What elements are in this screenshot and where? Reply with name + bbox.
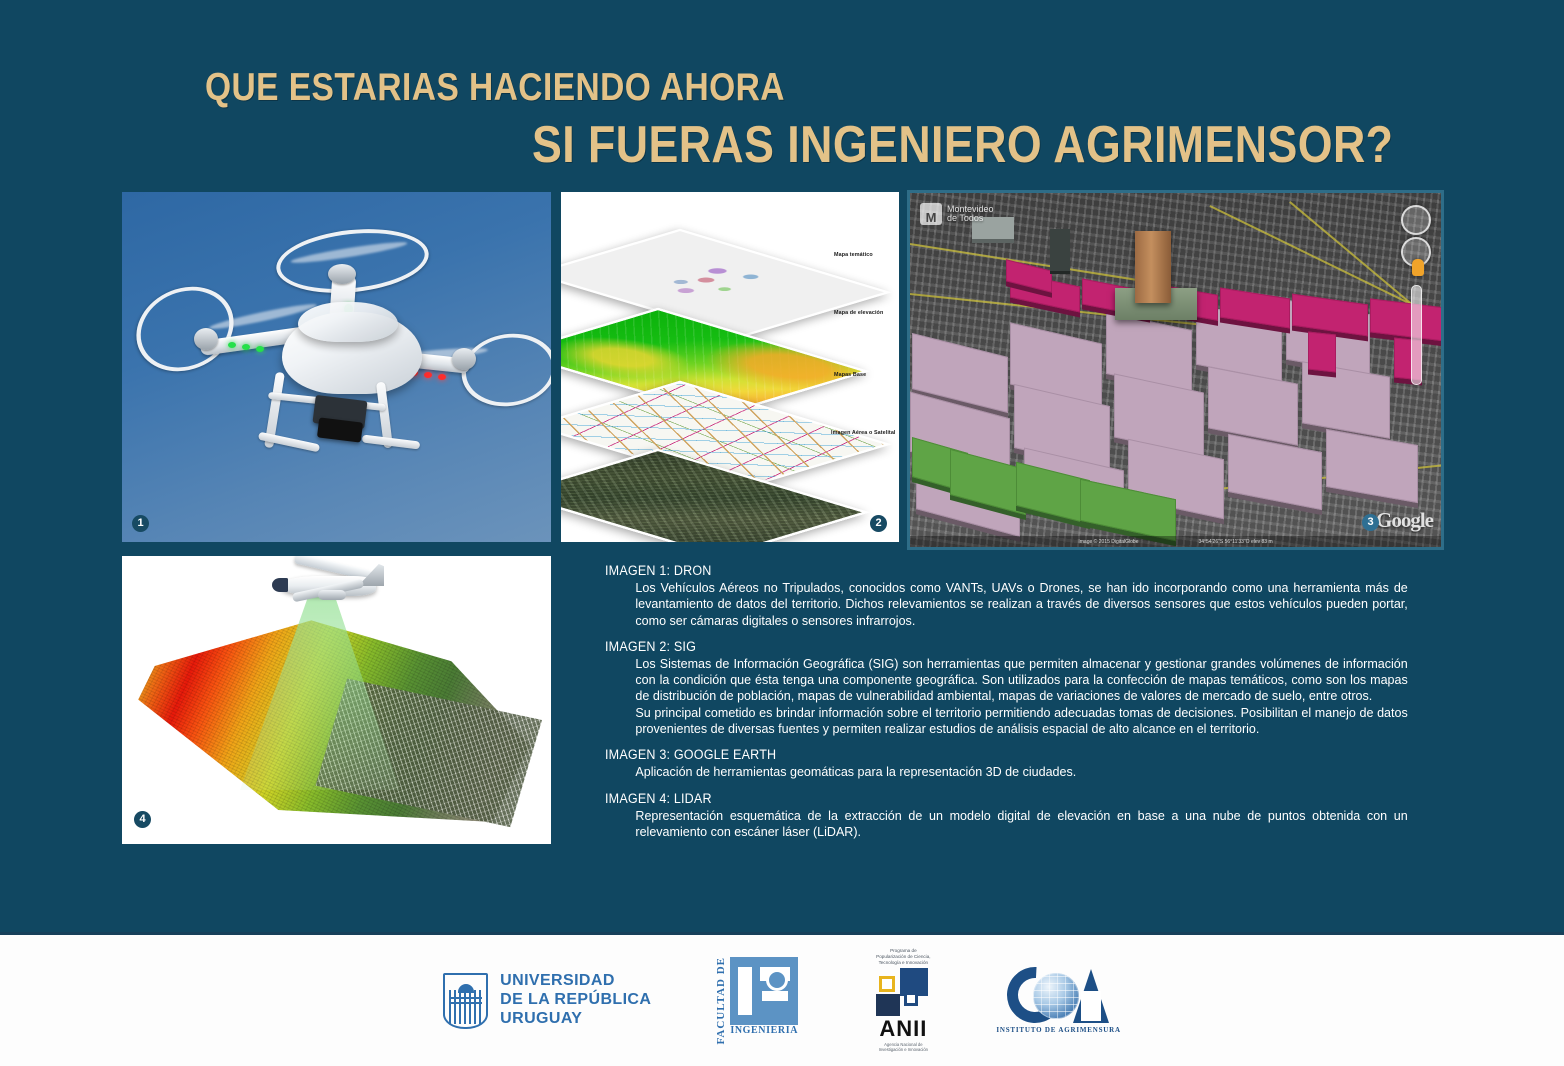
udelar-dome-icon [458, 984, 474, 993]
caption-body-2a: Los Sistemas de Información Geográfica (… [605, 656, 1408, 705]
logo-facultad-de-ingenieria: FACULTAD DE INGENIERIA [715, 957, 810, 1045]
udelar-line-2: DE LA REPÚBLICA [500, 991, 651, 1010]
logo-instituto-de-agrimensura: INSTITUTO DE AGRIMENSURA [996, 967, 1120, 1034]
udelar-line-3: URUGUAY [500, 1010, 651, 1029]
anii-square-yellow [879, 976, 895, 992]
building-block-highlight [1308, 332, 1336, 373]
caption-heading-2: IMAGEN 2: SIG [605, 639, 1391, 654]
montevideo-mark-icon: M [920, 203, 942, 225]
anii-square-outline [904, 992, 918, 1006]
compass-navigation-icon[interactable] [1401, 205, 1431, 235]
caption-group-4: IMAGEN 4: LIDAR Representación esquemáti… [605, 791, 1450, 841]
fing-vertical-label: FACULTAD DE [715, 957, 727, 1045]
image-panel-sig: Mapa temático Mapa de elevación Mapas Ba… [561, 192, 899, 542]
anii-tagline: Programa de Popularización de Ciencia, T… [876, 948, 930, 965]
caption-body-1: Los Vehículos Aéreos no Tripulados, cono… [605, 580, 1408, 629]
image-badge-2: 2 [870, 515, 887, 532]
led-red-3 [438, 374, 446, 380]
caption-text-block: IMAGEN 1: DRON Los Vehículos Aéreos no T… [605, 563, 1450, 848]
google-watermark: Google [1376, 508, 1433, 533]
aircraft-engine [318, 590, 346, 600]
anii-squares-icon [874, 968, 932, 1016]
zoom-slider[interactable] [1411, 285, 1422, 385]
grey-tower [1050, 229, 1070, 271]
caption-group-3: IMAGEN 3: GOOGLE EARTH Aplicación de her… [605, 747, 1450, 780]
status-imagery-credit: Image © 2015 DigitalGlobe [1078, 539, 1138, 545]
image-panel-drone: 1 [122, 192, 551, 542]
udelar-line-1: UNIVERSIDAD [500, 972, 651, 991]
anii-square-navy [876, 994, 900, 1016]
anii-wordmark: ANII [879, 1018, 927, 1040]
sig-label-base: Mapas Base [834, 372, 866, 378]
aircraft-nose [272, 578, 288, 592]
ia-wordmark: INSTITUTO DE AGRIMENSURA [996, 1026, 1120, 1034]
led-green-2 [242, 344, 250, 350]
caption-heading-1: IMAGEN 1: DRON [605, 563, 1391, 578]
led-green-1 [228, 342, 236, 348]
caption-group-1: IMAGEN 1: DRON Los Vehículos Aéreos no T… [605, 563, 1450, 629]
led-green-3 [256, 346, 264, 352]
footer-logo-bar: UNIVERSIDAD DE LA REPÚBLICA URUGUAY FACU… [0, 932, 1564, 1066]
sig-layer-stack: Mapa temático Mapa de elevación Mapas Ba… [561, 192, 899, 542]
udelar-shield-icon [443, 973, 488, 1029]
caption-heading-4: IMAGEN 4: LIDAR [605, 791, 1391, 806]
image-panel-google-earth: M Montevideo de Todos Google Image © 201… [907, 190, 1444, 550]
image-panel-lidar: 4 [122, 556, 551, 844]
led-red-2 [424, 372, 432, 378]
anii-subtitle: Agencia Nacional de Investigación e Inno… [879, 1042, 928, 1053]
lidar-scene [122, 556, 551, 844]
google-earth-viewport: M Montevideo de Todos Google Image © 201… [910, 193, 1441, 547]
poster-title: QUE ESTARIAS HACIENDO AHORA SI FUERAS IN… [0, 68, 1390, 171]
fing-dot-icon [766, 969, 788, 991]
ia-mark-icon [1007, 967, 1111, 1025]
caption-body-2b: Su principal cometido es brindar informa… [605, 705, 1408, 738]
caption-body-4: Representación esquemática de la extracc… [605, 808, 1408, 841]
street-view-pegman-icon[interactable] [1412, 259, 1424, 276]
logo-anii: Programa de Popularización de Ciencia, T… [874, 948, 932, 1052]
title-line-1: QUE ESTARIAS HACIENDO AHORA [205, 68, 1224, 107]
fing-wordmark: INGENIERIA [730, 1025, 798, 1036]
landmark-palacio-salvo [1135, 231, 1171, 303]
globe-icon [1033, 973, 1079, 1019]
caption-body-3: Aplicación de herramientas geomáticas pa… [605, 764, 1408, 780]
title-line-2: SI FUERAS INGENIERO AGRIMENSOR? [532, 119, 1270, 171]
sig-label-aerial: Imagen Aérea o Satelital [831, 430, 896, 436]
sig-label-thematic: Mapa temático [834, 252, 873, 258]
motor-right [452, 348, 476, 370]
fing-mark-icon [730, 957, 798, 1025]
image-badge-1: 1 [132, 515, 149, 532]
image-badge-4: 4 [134, 811, 151, 828]
caption-heading-3: IMAGEN 3: GOOGLE EARTH [605, 747, 1391, 762]
earth-status-bar: Image © 2015 DigitalGlobe 34°54'26"S 56°… [910, 536, 1441, 547]
motor-rear [328, 264, 356, 284]
udelar-wordmark: UNIVERSIDAD DE LA REPÚBLICA URUGUAY [500, 972, 651, 1029]
motor-left [194, 328, 218, 350]
sig-label-elevation: Mapa de elevación [834, 310, 883, 316]
image-badge-3: 3 [1362, 514, 1379, 531]
caption-group-2: IMAGEN 2: SIG Los Sistemas de Informació… [605, 639, 1450, 737]
logo-universidad-de-la-republica: UNIVERSIDAD DE LA REPÚBLICA URUGUAY [443, 972, 651, 1029]
udelar-building-icon [449, 990, 482, 1024]
watermark-city-sublabel: de Todos [947, 214, 994, 223]
status-coordinates: 34°54'26"S 56°11'33"O elev 83 m [1198, 539, 1272, 545]
drone-body-top [298, 302, 398, 342]
montevideo-watermark: M Montevideo de Todos [920, 203, 994, 225]
